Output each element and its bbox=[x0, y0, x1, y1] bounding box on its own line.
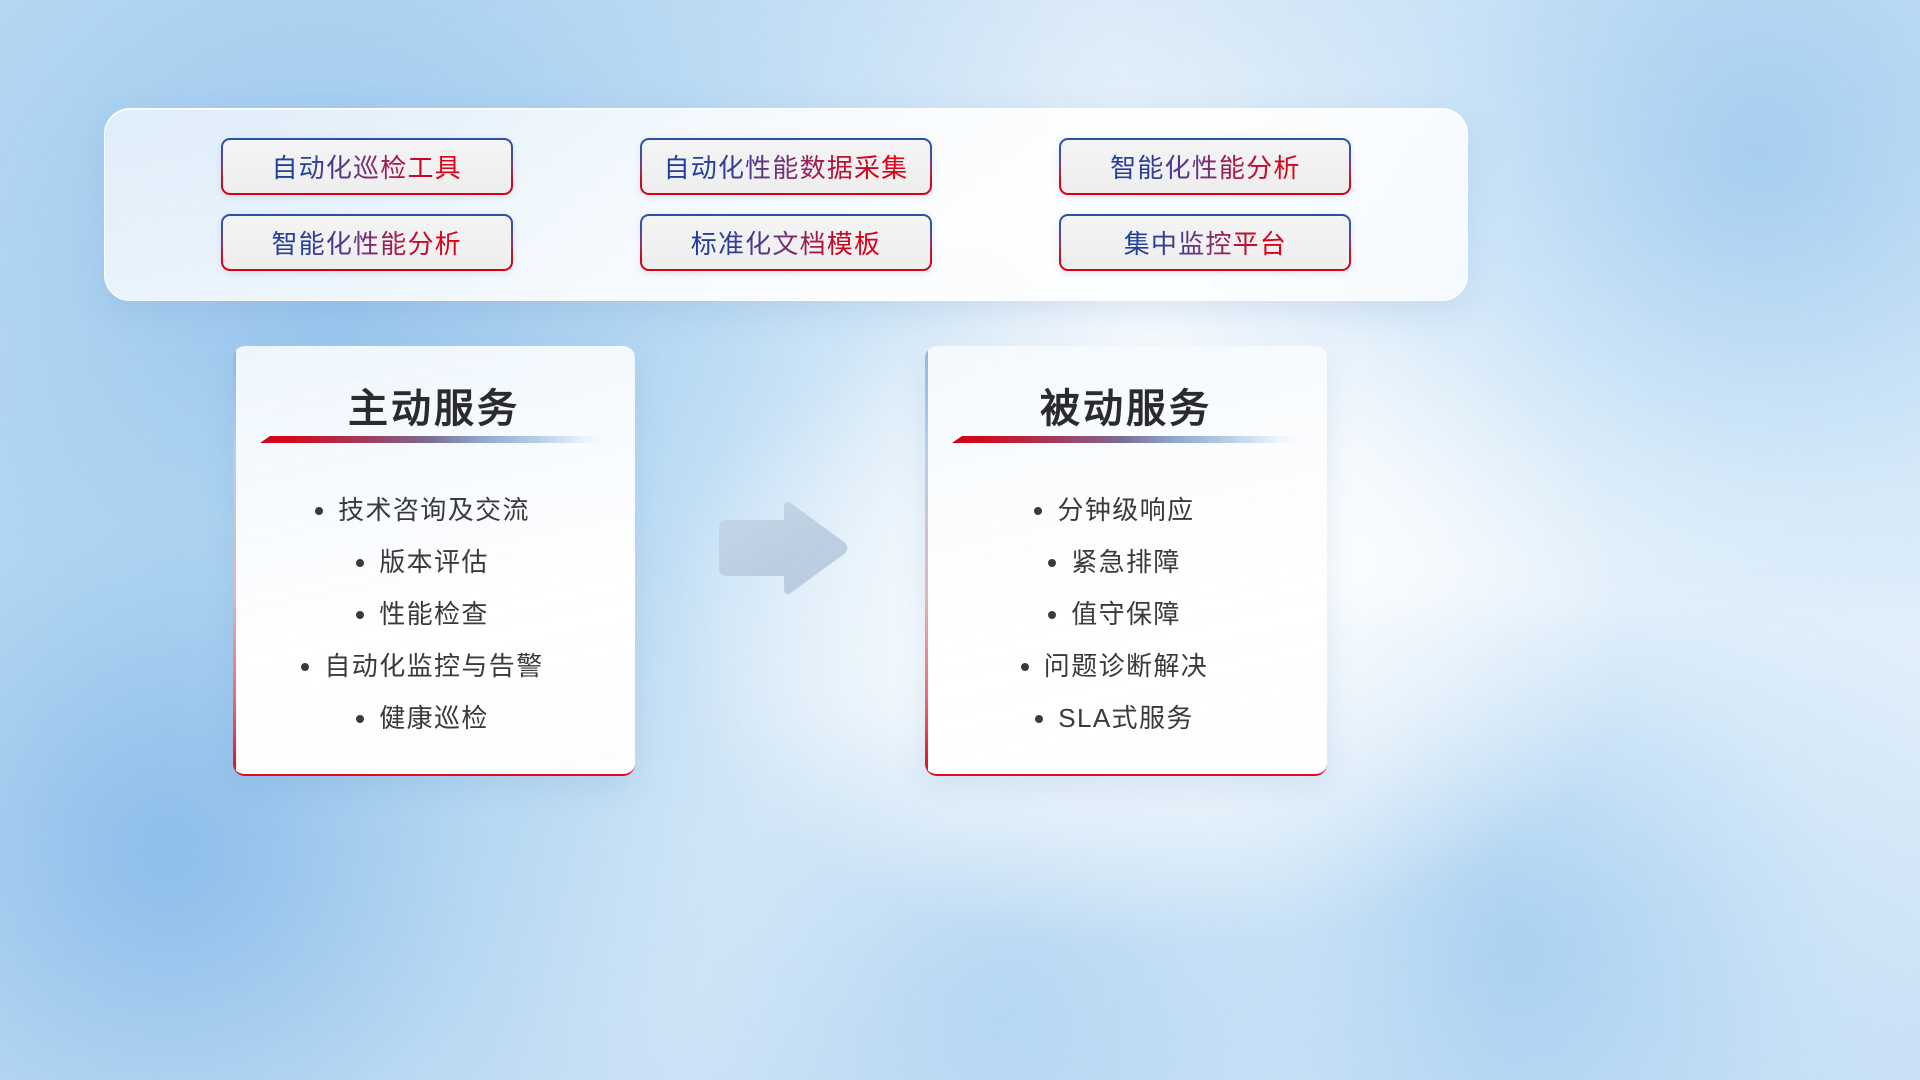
list-item: 技术咨询及交流 bbox=[338, 490, 530, 527]
pill-surface: 集中监控平台 bbox=[1061, 216, 1349, 269]
pill-surface: 标准化文档模板 bbox=[642, 216, 930, 269]
pill-label: 标准化文档模板 bbox=[691, 224, 881, 261]
pill-standard-doc-template[interactable]: 标准化文档模板 bbox=[640, 214, 932, 271]
list-item: 性能检查 bbox=[379, 594, 489, 631]
card-reactive-service[interactable]: 被动服务 分钟级响应 紧急排障 值守保障 问题诊断解决 SLA式服务 bbox=[925, 346, 1327, 776]
card-reactive-title: 被动服务 bbox=[925, 376, 1327, 434]
list-item: 自动化监控与告警 bbox=[324, 646, 543, 683]
pill-label: 集中监控平台 bbox=[1124, 224, 1287, 261]
capability-pill-grid: 自动化巡检工具 自动化性能数据采集 智能化性能分析 智能化性能分析 bbox=[105, 109, 1467, 300]
pill-surface: 智能化性能分析 bbox=[223, 216, 511, 269]
pill-intelligent-perf-analysis-2[interactable]: 智能化性能分析 bbox=[221, 214, 513, 271]
list-item: SLA式服务 bbox=[1058, 698, 1194, 735]
card-proactive-list: 技术咨询及交流 版本评估 性能检查 自动化监控与告警 健康巡检 bbox=[233, 469, 635, 760]
list-item: 紧急排障 bbox=[1071, 542, 1181, 579]
card-divider-gradient bbox=[952, 436, 1300, 443]
pill-automated-inspection-tool[interactable]: 自动化巡检工具 bbox=[221, 138, 513, 195]
pill-surface: 自动化巡检工具 bbox=[223, 140, 511, 193]
pill-label: 自动化巡检工具 bbox=[271, 148, 461, 185]
pill-label: 智能化性能分析 bbox=[271, 224, 461, 261]
arrow-right-icon bbox=[711, 497, 851, 599]
pill-automated-perf-collection[interactable]: 自动化性能数据采集 bbox=[640, 138, 932, 195]
pill-label: 自动化性能数据采集 bbox=[664, 148, 909, 185]
list-item: 版本评估 bbox=[379, 542, 489, 579]
card-divider-gradient bbox=[260, 436, 608, 443]
card-reactive-list: 分钟级响应 紧急排障 值守保障 问题诊断解决 SLA式服务 bbox=[925, 469, 1327, 760]
list-item: 值守保障 bbox=[1071, 594, 1181, 631]
capability-panel: 自动化巡检工具 自动化性能数据采集 智能化性能分析 智能化性能分析 bbox=[104, 108, 1468, 301]
pill-centralized-monitoring[interactable]: 集中监控平台 bbox=[1059, 214, 1351, 271]
diagram-stage: 自动化巡检工具 自动化性能数据采集 智能化性能分析 智能化性能分析 bbox=[0, 0, 1920, 1080]
pill-label: 智能化性能分析 bbox=[1110, 148, 1300, 185]
pill-surface: 智能化性能分析 bbox=[1061, 140, 1349, 193]
list-item: 分钟级响应 bbox=[1057, 490, 1194, 527]
card-proactive-title: 主动服务 bbox=[233, 376, 635, 434]
pill-surface: 自动化性能数据采集 bbox=[642, 140, 930, 193]
list-item: 问题诊断解决 bbox=[1044, 646, 1208, 683]
card-proactive-service[interactable]: 主动服务 技术咨询及交流 版本评估 性能检查 自动化监控与告警 健康巡检 bbox=[233, 346, 635, 776]
list-item: 健康巡检 bbox=[379, 698, 489, 735]
pill-intelligent-perf-analysis-1[interactable]: 智能化性能分析 bbox=[1059, 138, 1351, 195]
